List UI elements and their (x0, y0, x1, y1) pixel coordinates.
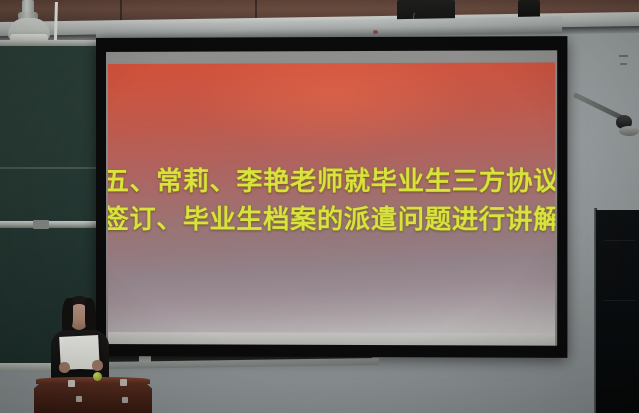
speaker-cone-icon (619, 126, 639, 136)
slide-text-block: 五、常莉、李艳老师就毕业生三方协议 签订、毕业生档案的派遣问题进行讲解 (108, 62, 555, 333)
podium-control (76, 396, 82, 402)
wall-fixing-screw (619, 55, 628, 57)
presenter-figure (48, 296, 114, 386)
podium-control (122, 397, 128, 403)
screen-surface: 五、常莉、李艳老师就毕业生三方协议 签订、毕业生档案的派遣问题进行讲解 (108, 62, 555, 333)
projection-screen: 五、常莉、李艳老师就毕业生三方协议 签订、毕业生档案的派遣问题进行讲解 (96, 36, 567, 358)
slide-line-2: 签订、毕业生档案的派遣问题进行讲解 (108, 203, 555, 238)
presenter-hair-strand (85, 298, 96, 332)
podium-indicator-light (93, 372, 102, 381)
podium-control (120, 379, 127, 386)
slide-line-1: 五、常莉、李艳老师就毕业生三方协议 (108, 164, 555, 199)
podium-control (68, 380, 75, 387)
chalkboard-seam (0, 167, 97, 169)
screen-bottom-band (108, 332, 555, 346)
classroom-photo: 五、常莉、李艳老师就毕业生三方协议 签订、毕业生档案的派遣问题进行讲解 (0, 0, 639, 413)
door-panel-line (604, 240, 635, 241)
presenter-hand (92, 360, 103, 371)
presenter-hair-strand (62, 298, 73, 330)
door-panel-line (604, 300, 635, 301)
chalkboard-rail-clip (33, 220, 49, 229)
wall-fixing-screw (620, 63, 627, 65)
screen-border: 五、常莉、李艳老师就毕业生三方协议 签订、毕业生档案的派遣问题进行讲解 (106, 50, 557, 345)
brand-logo-icon (373, 30, 378, 34)
presenter-hand (59, 362, 70, 373)
chalkboard-top-trim (0, 40, 97, 46)
